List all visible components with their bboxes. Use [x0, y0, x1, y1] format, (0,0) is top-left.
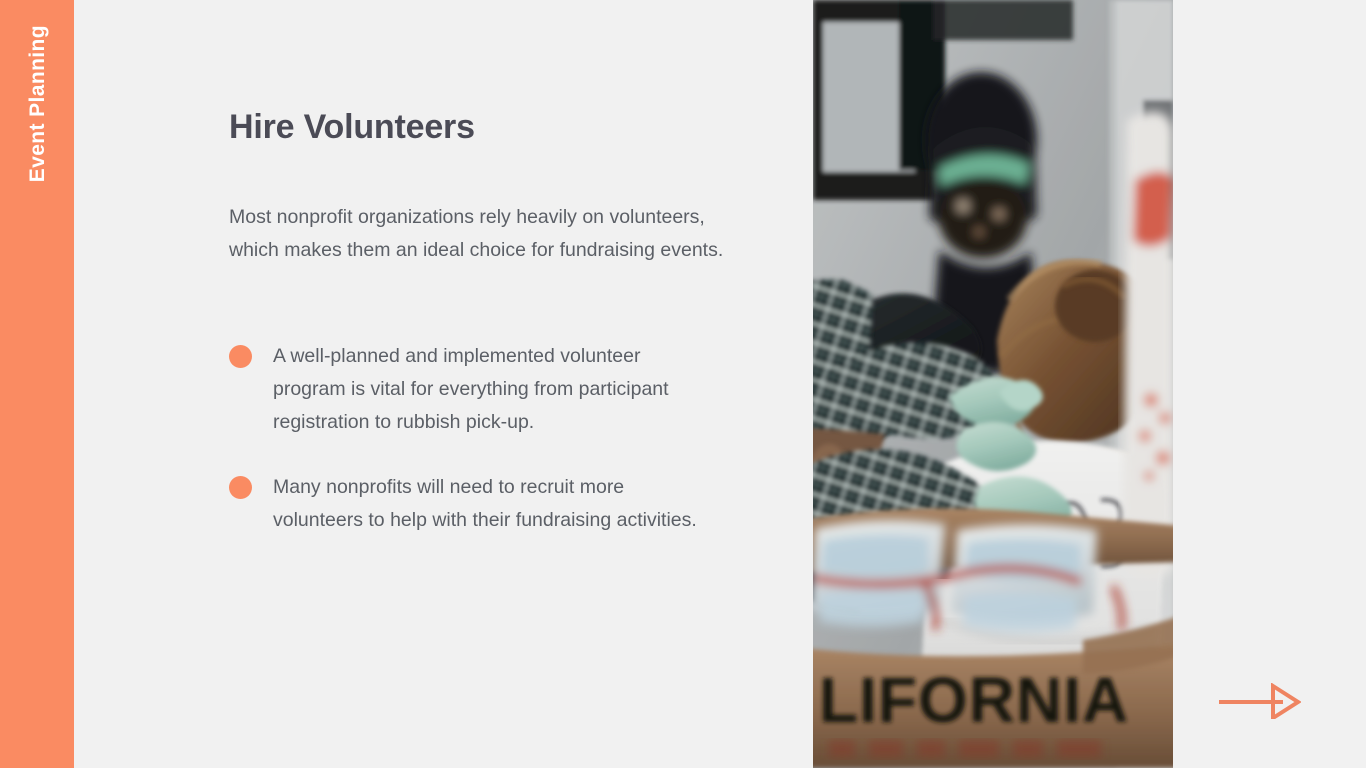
- side-tab-label: Event Planning: [26, 25, 50, 182]
- list-item-text: A well-planned and implemented volunteer…: [273, 345, 669, 433]
- lead-paragraph: Most nonprofit organizations rely heavil…: [229, 201, 729, 267]
- side-tab: Event Planning: [0, 0, 74, 768]
- page-title: Hire Volunteers: [229, 108, 475, 146]
- volunteer-photo: LIFORNIA: [813, 0, 1173, 768]
- side-tab-rotated-wrapper: Event Planning: [0, 0, 74, 768]
- volunteer-photo-illustration: LIFORNIA: [813, 0, 1173, 768]
- arrow-right-icon[interactable]: [1219, 683, 1301, 719]
- bullet-dot-icon: [229, 345, 252, 368]
- bullet-dot-icon: [229, 476, 252, 499]
- next-arrow-button[interactable]: [1219, 683, 1301, 719]
- list-item: A well-planned and implemented volunteer…: [229, 340, 699, 439]
- slide-root: Event Planning Hire Volunteers Most nonp…: [0, 0, 1366, 768]
- bullet-list: A well-planned and implemented volunteer…: [229, 340, 699, 537]
- list-item-text: Many nonprofits will need to recruit mor…: [273, 476, 697, 531]
- list-item: Many nonprofits will need to recruit mor…: [229, 471, 699, 537]
- content-column: Hire Volunteers Most nonprofit organizat…: [229, 0, 769, 768]
